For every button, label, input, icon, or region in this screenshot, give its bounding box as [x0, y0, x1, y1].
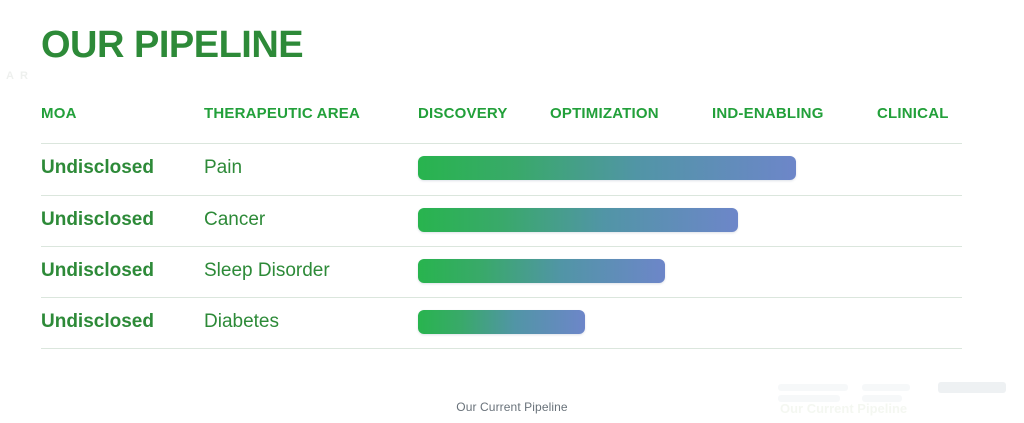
row-area-label: Cancer [204, 207, 265, 233]
table-row[interactable]: Undisclosed Cancer [0, 195, 1024, 245]
row-moa-label: Undisclosed [41, 155, 154, 181]
row-area-label: Pain [204, 155, 242, 181]
pipeline-screen: A R T S V N Our Current Pipeline OUR PIP… [0, 0, 1024, 423]
row-area-label: Diabetes [204, 309, 279, 335]
row-area-label: Sleep Disorder [204, 258, 330, 284]
table-row[interactable]: Undisclosed Pain [0, 143, 1024, 193]
table-row[interactable]: Undisclosed Sleep Disorder [0, 246, 1024, 296]
column-header-therapeutic-area: THERAPEUTIC AREA [204, 104, 360, 124]
table-row[interactable]: Undisclosed Diabetes [0, 297, 1024, 347]
row-moa-label: Undisclosed [41, 309, 154, 335]
row-moa-label: Undisclosed [41, 258, 154, 284]
column-header-discovery: DISCOVERY [418, 104, 508, 124]
column-header-ind-enabling: IND-ENABLING [712, 104, 824, 124]
row-divider [41, 348, 962, 349]
column-header-clinical: CLINICAL [877, 104, 949, 124]
progress-bar [418, 259, 665, 283]
page-title: OUR PIPELINE [41, 22, 303, 68]
progress-bar [418, 156, 796, 180]
row-moa-label: Undisclosed [41, 207, 154, 233]
column-header-optimization: OPTIMIZATION [550, 104, 659, 124]
progress-bar [418, 310, 585, 334]
column-header-moa: MOA [41, 104, 77, 124]
progress-bar [418, 208, 738, 232]
pipeline-caption: Our Current Pipeline [0, 399, 1024, 415]
